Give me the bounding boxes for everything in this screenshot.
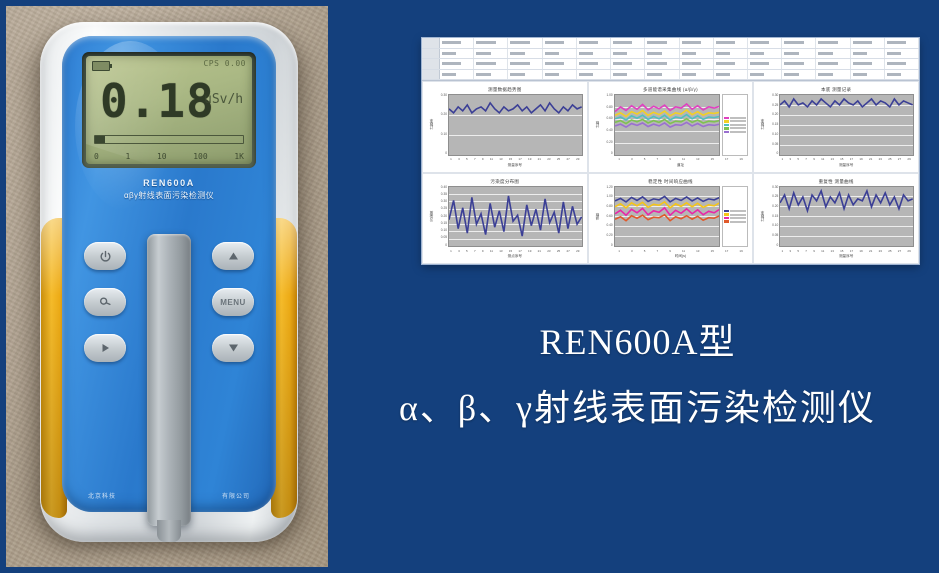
x-tick-label: 17 xyxy=(725,157,728,161)
x-tick-label: 23 xyxy=(879,249,882,253)
chart-x-axis-label: 测点序号 xyxy=(427,254,583,260)
x-tick-label: 19 xyxy=(859,249,862,253)
x-tick-label: 5 xyxy=(644,157,646,161)
slide-canvas: CPS 0.00 0.18 uSv/h 0 1 10 100 1K xyxy=(0,0,939,573)
y-tick-label: 0.10 xyxy=(772,224,778,227)
table-cell xyxy=(885,38,919,48)
x-tick-label: 21 xyxy=(869,249,872,253)
chart-plot-area xyxy=(779,94,914,156)
chart-title: 多道能谱采集曲线 (α/β/γ) xyxy=(593,87,749,94)
gridline xyxy=(449,155,582,156)
series-line xyxy=(615,214,720,220)
lcd-reading-unit: uSv/h xyxy=(204,92,243,107)
x-tick-label: 3 xyxy=(789,249,791,253)
play-button[interactable] xyxy=(84,334,126,362)
x-tick-label: 5 xyxy=(644,249,646,253)
y-tick-label: 0.15 xyxy=(441,222,447,225)
x-tick-label: 23 xyxy=(547,249,550,253)
table-cell xyxy=(714,59,748,69)
y-tick-label: 0.80 xyxy=(606,106,612,109)
gridline xyxy=(615,155,720,156)
y-tick-label: 0.30 xyxy=(772,186,778,189)
y-tick-label: 0.25 xyxy=(772,104,778,107)
x-tick-label: 7 xyxy=(474,249,476,253)
x-tick-label: 15 xyxy=(711,249,714,253)
play-icon xyxy=(99,342,112,354)
table-cell xyxy=(816,59,850,69)
chart-1: 测量数据趋势图计数率0.300.200.10013579111315171921… xyxy=(422,81,588,173)
x-tick-label: 19 xyxy=(528,249,531,253)
y-tick-label: 0.80 xyxy=(606,205,612,208)
table-cell xyxy=(611,49,645,59)
table-cell xyxy=(577,49,611,59)
x-tick-label: 29 xyxy=(907,249,910,253)
y-tick-label: 0.30 xyxy=(441,94,447,97)
y-tick-label: 0.20 xyxy=(441,113,447,116)
x-tick-label: 21 xyxy=(538,249,541,253)
chart-plot-area xyxy=(614,94,721,156)
x-tick-label: 7 xyxy=(656,157,658,161)
table-cell xyxy=(885,49,919,59)
legend-label xyxy=(730,127,746,129)
chart-y-axis-label: 计数率 xyxy=(758,186,765,248)
x-tick-label: 17 xyxy=(725,249,728,253)
legend-item xyxy=(724,127,746,130)
x-tick-label: 7 xyxy=(656,249,658,253)
table-row xyxy=(422,59,919,70)
x-tick-label: 25 xyxy=(557,157,560,161)
x-tick-label: 19 xyxy=(739,157,742,161)
up-button[interactable] xyxy=(212,242,254,270)
lcd-bezel: CPS 0.00 0.18 uSv/h 0 1 10 100 1K xyxy=(82,52,256,168)
table-cell xyxy=(645,59,679,69)
series-line xyxy=(615,196,720,201)
x-tick-label: 9 xyxy=(669,249,671,253)
lcd-bargraph xyxy=(94,135,244,144)
product-model-title: REN600A型 xyxy=(336,318,939,366)
chart-plot-area xyxy=(448,94,583,156)
chart-x-ticks: 1357911131517192123252729 xyxy=(758,247,914,254)
legend-label xyxy=(730,217,746,219)
chart-x-ticks: 1357911131517192123252729 xyxy=(427,247,583,254)
legend-item xyxy=(724,131,746,134)
legend-swatch xyxy=(724,213,729,216)
series-line xyxy=(780,99,913,107)
x-tick-label: 25 xyxy=(888,157,891,161)
y-tick-label: 0.35 xyxy=(441,193,447,196)
y-tick-label: 0.05 xyxy=(441,236,447,239)
row-header xyxy=(422,38,440,48)
series-line xyxy=(615,104,720,112)
x-tick-label: 25 xyxy=(557,249,560,253)
legend-label xyxy=(730,124,746,126)
legend-item xyxy=(724,210,746,213)
x-tick-label: 17 xyxy=(518,157,521,161)
table-cell xyxy=(816,70,850,80)
table-cell xyxy=(851,38,885,48)
table-cell xyxy=(782,59,816,69)
chart-y-ticks: 0.400.350.300.250.200.150.100.050 xyxy=(434,186,448,248)
chart-y-axis-label: 计数率 xyxy=(758,94,765,156)
chart-body: 计数率0.300.250.200.150.100.050 xyxy=(758,186,914,248)
x-tick-label: 13 xyxy=(696,157,699,161)
chart-body: 计数1.000.800.600.400.200 xyxy=(593,94,749,156)
y-tick-label: 1.00 xyxy=(606,195,612,198)
chart-plot-area xyxy=(779,186,914,248)
chart-x-axis-label: 道址 xyxy=(593,163,749,169)
table-cell xyxy=(474,59,508,69)
x-tick-label: 19 xyxy=(528,157,531,161)
legend-swatch xyxy=(724,117,729,120)
menu-button[interactable]: MENU xyxy=(212,288,254,316)
x-tick-label: 15 xyxy=(840,249,843,253)
x-tick-label: 1 xyxy=(781,249,783,253)
x-tick-label: 29 xyxy=(576,249,579,253)
series-line xyxy=(615,201,720,207)
legend-item xyxy=(724,220,746,223)
x-tick-label: 7 xyxy=(474,157,476,161)
chart-x-ticks: 135791113151719 xyxy=(593,156,749,163)
x-tick-label: 1 xyxy=(618,157,620,161)
chart-y-ticks: 0.300.250.200.150.100.050 xyxy=(765,186,779,248)
menu-button-label: MENU xyxy=(220,298,246,307)
chart-y-ticks: 1.000.800.600.400.200 xyxy=(600,94,614,156)
row-header xyxy=(422,49,440,59)
chart-y-axis-label: 计数率 xyxy=(427,94,434,156)
table-cell xyxy=(748,59,782,69)
x-tick-label: 21 xyxy=(869,157,872,161)
table-cell xyxy=(680,49,714,59)
x-tick-label: 3 xyxy=(631,249,633,253)
x-tick-label: 3 xyxy=(631,157,633,161)
chart-5: 稳定性 时间响应曲线读数1.201.000.800.600.400.200135… xyxy=(588,173,754,265)
x-tick-label: 27 xyxy=(566,157,569,161)
row-header xyxy=(422,59,440,69)
table-cell xyxy=(714,49,748,59)
lcd-screen: CPS 0.00 0.18 uSv/h 0 1 10 100 1K xyxy=(86,56,252,164)
gridline xyxy=(780,155,913,156)
x-tick-label: 15 xyxy=(840,157,843,161)
y-tick-label: 0.20 xyxy=(772,113,778,116)
lcd-scale-tick: 1K xyxy=(234,152,244,161)
series-line xyxy=(780,190,913,210)
y-tick-label: 0.20 xyxy=(606,141,612,144)
legend-item xyxy=(724,124,746,127)
table-cell xyxy=(645,70,679,80)
legend-swatch xyxy=(724,220,729,223)
y-tick-label: 0.20 xyxy=(772,205,778,208)
legend-item xyxy=(724,117,746,120)
software-screenshot-panel: 测量数据趋势图计数率0.300.200.10013579111315171921… xyxy=(422,38,919,264)
table-cell xyxy=(748,38,782,48)
chart-x-ticks: 1357911131517192123252729 xyxy=(427,156,583,163)
x-tick-label: 9 xyxy=(669,157,671,161)
product-description-title: α、β、γ射线表面污染检测仪 xyxy=(336,380,939,436)
x-tick-label: 25 xyxy=(888,249,891,253)
lcd-status-text: CPS 0.00 xyxy=(203,59,246,68)
x-tick-label: 13 xyxy=(831,249,834,253)
brand-text-left: 北京科技 xyxy=(88,491,116,500)
x-tick-label: 7 xyxy=(805,157,807,161)
y-tick-label: 0.10 xyxy=(441,133,447,136)
lcd-reading-value: 0.18 xyxy=(100,78,215,124)
x-tick-label: 13 xyxy=(499,157,502,161)
table-cell xyxy=(577,70,611,80)
x-tick-label: 5 xyxy=(466,249,468,253)
legend-item xyxy=(724,213,746,216)
table-cell xyxy=(440,49,474,59)
x-tick-label: 13 xyxy=(696,249,699,253)
x-tick-label: 19 xyxy=(859,157,862,161)
y-tick-label: 0.20 xyxy=(606,234,612,237)
x-tick-label: 15 xyxy=(509,157,512,161)
magnifier-icon xyxy=(98,296,112,309)
x-tick-label: 11 xyxy=(821,157,824,161)
x-tick-label: 5 xyxy=(797,249,799,253)
table-cell xyxy=(508,49,542,59)
legend-label xyxy=(730,221,746,223)
y-tick-label: 0.15 xyxy=(772,215,778,218)
legend-label xyxy=(730,214,746,216)
chart-title: 重复性 测量曲线 xyxy=(758,179,914,186)
table-row xyxy=(422,70,919,81)
chart-legend xyxy=(722,94,748,156)
device-model-name: REN600A xyxy=(62,178,276,188)
legend-swatch xyxy=(724,124,729,127)
x-tick-label: 11 xyxy=(821,249,824,253)
table-cell xyxy=(611,59,645,69)
y-tick-label: 0.25 xyxy=(772,195,778,198)
device-model-subtitle: αβγ射线表面污染检测仪 xyxy=(62,190,276,201)
table-cell xyxy=(645,49,679,59)
x-tick-label: 5 xyxy=(797,157,799,161)
gridline xyxy=(449,246,582,247)
chart-plot-area xyxy=(614,186,721,248)
y-tick-label: 0.05 xyxy=(772,234,778,237)
chart-body: 读数1.201.000.800.600.400.200 xyxy=(593,186,749,248)
legend-swatch xyxy=(724,127,729,130)
strap-tip xyxy=(157,520,181,542)
table-cell xyxy=(782,38,816,48)
table-cell xyxy=(782,70,816,80)
legend-item xyxy=(724,217,746,220)
legend-label xyxy=(730,120,746,122)
x-tick-label: 15 xyxy=(509,249,512,253)
table-cell xyxy=(508,70,542,80)
device-model-label: REN600A αβγ射线表面污染检测仪 xyxy=(62,178,276,201)
table-cell xyxy=(782,49,816,59)
table-cell xyxy=(816,38,850,48)
table-cell xyxy=(474,70,508,80)
table-cell xyxy=(645,38,679,48)
chart-x-axis-label: 测量序号 xyxy=(427,163,583,169)
x-tick-label: 23 xyxy=(879,157,882,161)
y-tick-label: 0.20 xyxy=(441,215,447,218)
table-cell xyxy=(543,38,577,48)
x-tick-label: 1 xyxy=(618,249,620,253)
y-tick-label: 0.10 xyxy=(441,229,447,232)
chart-title: 稳定性 时间响应曲线 xyxy=(593,179,749,186)
chart-y-ticks: 0.300.200.100 xyxy=(434,94,448,156)
y-tick-label: 0.10 xyxy=(772,133,778,136)
y-tick-label: 0.60 xyxy=(606,117,612,120)
chart-body: 计数率0.300.250.200.150.100.050 xyxy=(758,94,914,156)
x-tick-label: 11 xyxy=(490,249,493,253)
table-cell xyxy=(748,70,782,80)
gridline xyxy=(780,246,913,247)
chart-title: 本底 测量记录 xyxy=(758,87,914,94)
down-button[interactable] xyxy=(212,334,254,362)
power-icon xyxy=(99,250,112,263)
x-tick-label: 9 xyxy=(482,249,484,253)
charts-grid: 测量数据趋势图计数率0.300.200.10013579111315171921… xyxy=(422,81,919,264)
chart-title: 污染度分布图 xyxy=(427,179,583,186)
y-tick-label: 0.40 xyxy=(441,186,447,189)
x-tick-label: 19 xyxy=(739,249,742,253)
battery-icon xyxy=(92,61,110,71)
table-cell xyxy=(816,49,850,59)
legend-swatch xyxy=(724,210,729,213)
table-cell xyxy=(851,70,885,80)
y-tick-label: 0.30 xyxy=(772,94,778,97)
x-tick-label: 27 xyxy=(898,249,901,253)
table-cell xyxy=(543,70,577,80)
x-tick-label: 23 xyxy=(547,157,550,161)
legend-label xyxy=(730,210,746,212)
series-line xyxy=(615,207,720,214)
triangle-up-icon xyxy=(227,250,240,262)
chart-plot-area xyxy=(448,186,583,248)
legend-swatch xyxy=(724,120,729,123)
table-cell xyxy=(885,59,919,69)
table-cell xyxy=(748,49,782,59)
table-cell xyxy=(543,49,577,59)
chart-legend xyxy=(722,186,748,248)
x-tick-label: 11 xyxy=(682,249,685,253)
y-tick-label: 0.40 xyxy=(606,129,612,132)
lcd-scale-tick: 100 xyxy=(193,152,207,161)
table-cell xyxy=(543,59,577,69)
lcd-scale-labels: 0 1 10 100 1K xyxy=(94,152,244,161)
x-tick-label: 3 xyxy=(789,157,791,161)
x-tick-label: 29 xyxy=(907,157,910,161)
table-cell xyxy=(508,59,542,69)
x-tick-label: 7 xyxy=(805,249,807,253)
y-tick-label: 0.05 xyxy=(772,143,778,146)
table-cell xyxy=(611,38,645,48)
chart-x-axis-label: 时间(s) xyxy=(593,254,749,260)
x-tick-label: 1 xyxy=(450,157,452,161)
x-tick-label: 1 xyxy=(450,249,452,253)
search-button[interactable] xyxy=(84,288,126,316)
chart-x-axis-label: 测量序号 xyxy=(758,163,914,169)
triangle-down-icon xyxy=(227,342,240,354)
y-tick-label: 0.30 xyxy=(441,200,447,203)
chart-x-ticks: 135791113151719 xyxy=(593,247,749,254)
survey-meter-device: CPS 0.00 0.18 uSv/h 0 1 10 100 1K xyxy=(40,22,298,542)
legend-item xyxy=(724,120,746,123)
table-row xyxy=(422,38,919,49)
y-tick-label: 1.20 xyxy=(606,186,612,189)
row-header xyxy=(422,70,440,80)
table-cell xyxy=(680,70,714,80)
table-cell xyxy=(680,38,714,48)
x-tick-label: 17 xyxy=(518,249,521,253)
gridline xyxy=(615,246,720,247)
table-cell xyxy=(508,38,542,48)
series-line xyxy=(449,103,582,113)
series-line xyxy=(615,110,720,117)
table-cell xyxy=(680,59,714,69)
y-tick-label: 0.25 xyxy=(441,207,447,210)
table-cell xyxy=(885,70,919,80)
legend-swatch xyxy=(724,217,729,220)
x-tick-label: 1 xyxy=(781,157,783,161)
chart-2: 多道能谱采集曲线 (α/β/γ)计数1.000.800.600.400.2001… xyxy=(588,81,754,173)
device-hand-strap xyxy=(147,234,191,526)
power-button[interactable] xyxy=(84,242,126,270)
table-cell xyxy=(474,49,508,59)
x-tick-label: 13 xyxy=(499,249,502,253)
table-cell xyxy=(714,70,748,80)
x-tick-label: 9 xyxy=(813,249,815,253)
table-cell xyxy=(611,70,645,80)
chart-x-ticks: 1357911131517192123252729 xyxy=(758,156,914,163)
x-tick-label: 27 xyxy=(898,157,901,161)
y-tick-label: 1.00 xyxy=(606,94,612,97)
x-tick-label: 3 xyxy=(458,157,460,161)
x-tick-label: 11 xyxy=(682,157,685,161)
x-tick-label: 5 xyxy=(466,157,468,161)
table-cell xyxy=(440,70,474,80)
x-tick-label: 21 xyxy=(538,157,541,161)
chart-y-ticks: 1.201.000.800.600.400.200 xyxy=(600,186,614,248)
x-tick-label: 17 xyxy=(850,249,853,253)
chart-body: 计数率0.300.200.100 xyxy=(427,94,583,156)
legend-swatch xyxy=(724,131,729,134)
y-tick-label: 0.60 xyxy=(606,215,612,218)
table-cell xyxy=(714,38,748,48)
series-line xyxy=(449,195,582,235)
lcd-scale-tick: 1 xyxy=(125,152,130,161)
brand-text-right: 有限公司 xyxy=(222,491,250,500)
x-tick-label: 17 xyxy=(850,157,853,161)
table-cell xyxy=(851,59,885,69)
table-cell xyxy=(474,38,508,48)
lcd-scale-tick: 0 xyxy=(94,152,99,161)
chart-y-axis-label: 读数 xyxy=(593,186,600,248)
table-cell xyxy=(851,49,885,59)
x-tick-label: 9 xyxy=(813,157,815,161)
chart-y-axis-label: 污染度 xyxy=(427,186,434,248)
x-tick-label: 13 xyxy=(831,157,834,161)
x-tick-label: 9 xyxy=(482,157,484,161)
chart-y-ticks: 0.300.250.200.150.100.050 xyxy=(765,94,779,156)
chart-y-axis-label: 计数 xyxy=(593,94,600,156)
title-block: REN600A型 α、β、γ射线表面污染检测仪 xyxy=(336,318,939,436)
legend-label xyxy=(730,117,746,119)
table-cell xyxy=(440,59,474,69)
right-column: 测量数据趋势图计数率0.300.200.10013579111315171921… xyxy=(336,0,939,573)
chart-body: 污染度0.400.350.300.250.200.150.100.050 xyxy=(427,186,583,248)
chart-4: 污染度分布图污染度0.400.350.300.250.200.150.100.0… xyxy=(422,173,588,265)
table-cell xyxy=(577,38,611,48)
legend-label xyxy=(730,131,746,133)
spreadsheet-area xyxy=(422,38,919,81)
x-tick-label: 29 xyxy=(576,157,579,161)
x-tick-label: 3 xyxy=(458,249,460,253)
chart-3: 本底 测量记录计数率0.300.250.200.150.100.05013579… xyxy=(753,81,919,173)
